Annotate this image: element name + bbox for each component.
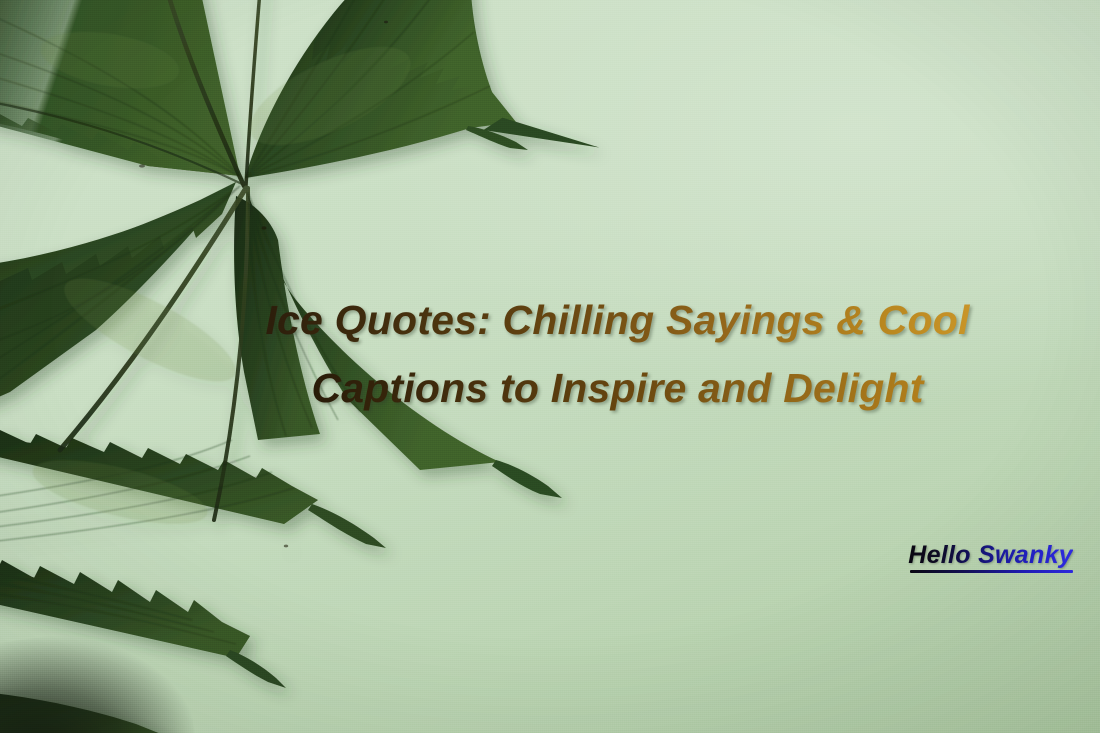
- headline-line-2: Captions to Inspire and Delight: [150, 354, 1085, 422]
- brand-underline: [910, 570, 1073, 573]
- brand-watermark[interactable]: Hello Swanky: [908, 541, 1073, 570]
- brand-label: Hello Swanky: [908, 541, 1073, 569]
- headline-line-1: Ice Quotes: Chilling Sayings & Cool: [150, 286, 1085, 354]
- page-title: Ice Quotes: Chilling Sayings & Cool Capt…: [150, 286, 1085, 422]
- banner-canvas: Ice Quotes: Chilling Sayings & Cool Capt…: [0, 0, 1100, 733]
